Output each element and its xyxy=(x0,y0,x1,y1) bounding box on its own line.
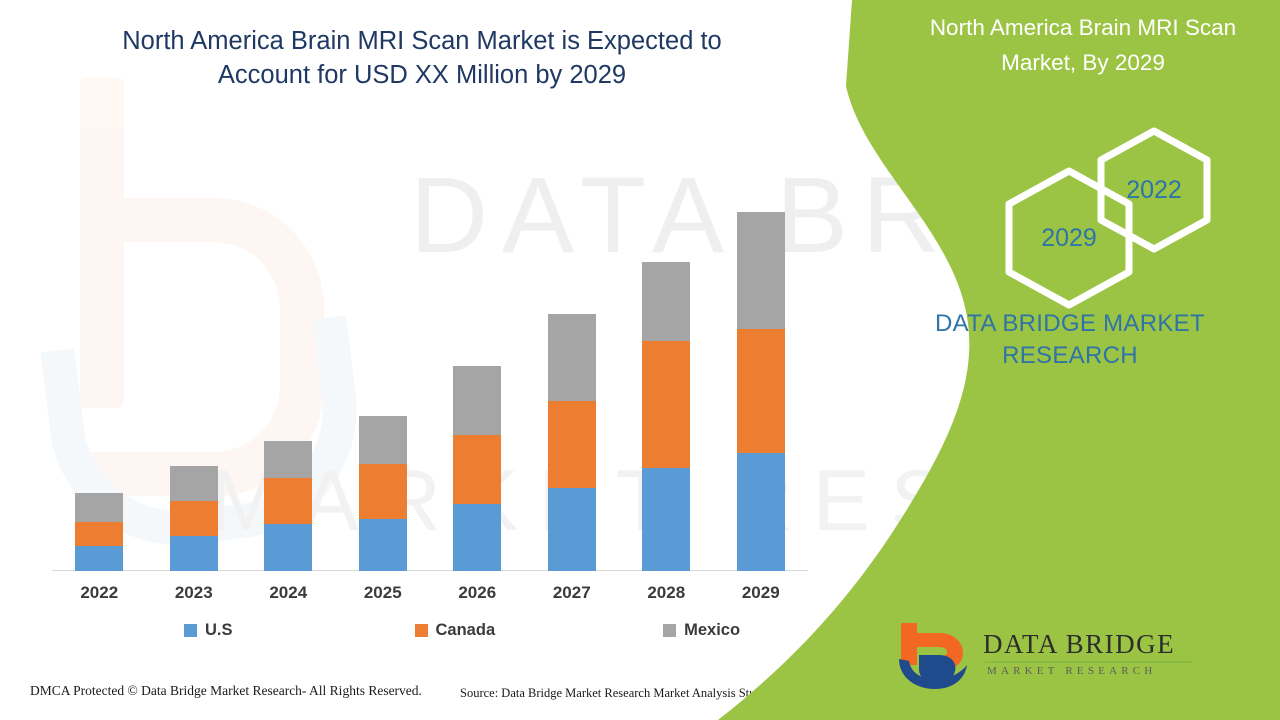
panel-content: North America Brain MRI Scan Market, By … xyxy=(850,0,1280,720)
hexagon-group: 2029 2022 xyxy=(850,125,1280,295)
legend-item-us[interactable]: U.S xyxy=(184,621,233,640)
x-axis-label: 2025 xyxy=(336,583,430,609)
bar-group xyxy=(52,200,146,571)
bar-group xyxy=(714,200,808,571)
x-axis-label: 2023 xyxy=(147,583,241,609)
bar-group xyxy=(241,200,335,571)
bar-segment-us xyxy=(170,536,218,571)
page-title: North America Brain MRI Scan Market is E… xyxy=(86,24,758,92)
stacked-bar[interactable] xyxy=(548,314,596,571)
bar-segment-mexico xyxy=(548,314,596,401)
x-axis-label: 2027 xyxy=(525,583,619,609)
bar-segment-us xyxy=(642,468,690,571)
stacked-bar[interactable] xyxy=(737,212,785,571)
bar-segment-canada xyxy=(359,464,407,519)
bar-segment-mexico xyxy=(453,366,501,435)
bar-segment-mexico xyxy=(642,262,690,341)
legend-swatch-icon xyxy=(184,624,197,637)
legend-item-mexico[interactable]: Mexico xyxy=(663,621,740,640)
bar-segment-canada xyxy=(737,329,785,453)
bar-segment-us xyxy=(737,453,785,571)
legend-label: Mexico xyxy=(684,621,740,640)
company-logo: DATA BRIDGE MARKET RESEARCH xyxy=(895,615,1255,700)
bar-segment-canada xyxy=(170,501,218,536)
bar-segment-mexico xyxy=(75,493,123,522)
legend-item-canada[interactable]: Canada xyxy=(415,621,496,640)
chart-region: North America Brain MRI Scan Market is E… xyxy=(0,0,850,720)
x-axis-label: 2029 xyxy=(714,583,808,609)
logo-divider xyxy=(985,661,1193,663)
stacked-bar[interactable] xyxy=(642,262,690,571)
logo-subtitle: MARKET RESEARCH xyxy=(987,665,1193,677)
bar-group xyxy=(430,200,524,571)
logo-mark-icon xyxy=(895,619,973,693)
logo-text: DATA BRIDGE MARKET RESEARCH xyxy=(983,629,1193,677)
x-axis-labels: 20222023202420252026202720282029 xyxy=(52,583,808,609)
bar-segment-mexico xyxy=(359,416,407,464)
bar-group xyxy=(525,200,619,571)
bar-segment-canada xyxy=(548,401,596,488)
logo-title: DATA BRIDGE xyxy=(983,629,1193,660)
hexagon-start-year: 2022 xyxy=(1090,125,1218,255)
panel-title: North America Brain MRI Scan Market, By … xyxy=(898,10,1268,80)
x-axis-label: 2024 xyxy=(241,583,335,609)
bar-group xyxy=(147,200,241,571)
bar-series-container xyxy=(52,200,808,571)
stacked-bar[interactable] xyxy=(75,493,123,571)
legend-swatch-icon xyxy=(415,624,428,637)
bar-segment-canada xyxy=(75,522,123,546)
brand-name: DATA BRIDGE MARKET RESEARCH xyxy=(870,308,1270,372)
bar-group xyxy=(336,200,430,571)
chart-legend: U.SCanadaMexico xyxy=(52,616,808,644)
footer: DMCA Protected © Data Bridge Market Rese… xyxy=(0,680,850,720)
bar-segment-us xyxy=(453,504,501,571)
bar-segment-us xyxy=(359,519,407,571)
bar-segment-mexico xyxy=(170,466,218,501)
infographic-root: DATA BRIDGE MARKET RESEARCH North Americ… xyxy=(0,0,1280,720)
legend-label: Canada xyxy=(436,621,496,640)
copyright-text: DMCA Protected © Data Bridge Market Rese… xyxy=(30,683,422,699)
x-axis-label: 2028 xyxy=(619,583,713,609)
legend-swatch-icon xyxy=(663,624,676,637)
stacked-bar[interactable] xyxy=(170,466,218,571)
stacked-bar[interactable] xyxy=(264,441,312,571)
bar-group xyxy=(619,200,713,571)
bar-segment-canada xyxy=(453,435,501,504)
legend-label: U.S xyxy=(205,621,233,640)
hexagon-end-year-label: 2029 xyxy=(1041,224,1097,253)
bar-segment-us xyxy=(264,524,312,571)
bar-segment-canada xyxy=(642,341,690,468)
x-axis-label: 2026 xyxy=(430,583,524,609)
bar-segment-mexico xyxy=(737,212,785,329)
x-axis-label: 2022 xyxy=(52,583,146,609)
bar-segment-us xyxy=(75,546,123,571)
stacked-bar[interactable] xyxy=(359,416,407,571)
source-text: Source: Data Bridge Market Research Mark… xyxy=(460,686,796,701)
plot-area xyxy=(52,200,808,571)
bar-segment-us xyxy=(548,488,596,571)
hexagon-start-year-label: 2022 xyxy=(1126,176,1182,205)
stacked-bar[interactable] xyxy=(453,366,501,571)
bar-segment-canada xyxy=(264,478,312,524)
bar-segment-mexico xyxy=(264,441,312,478)
